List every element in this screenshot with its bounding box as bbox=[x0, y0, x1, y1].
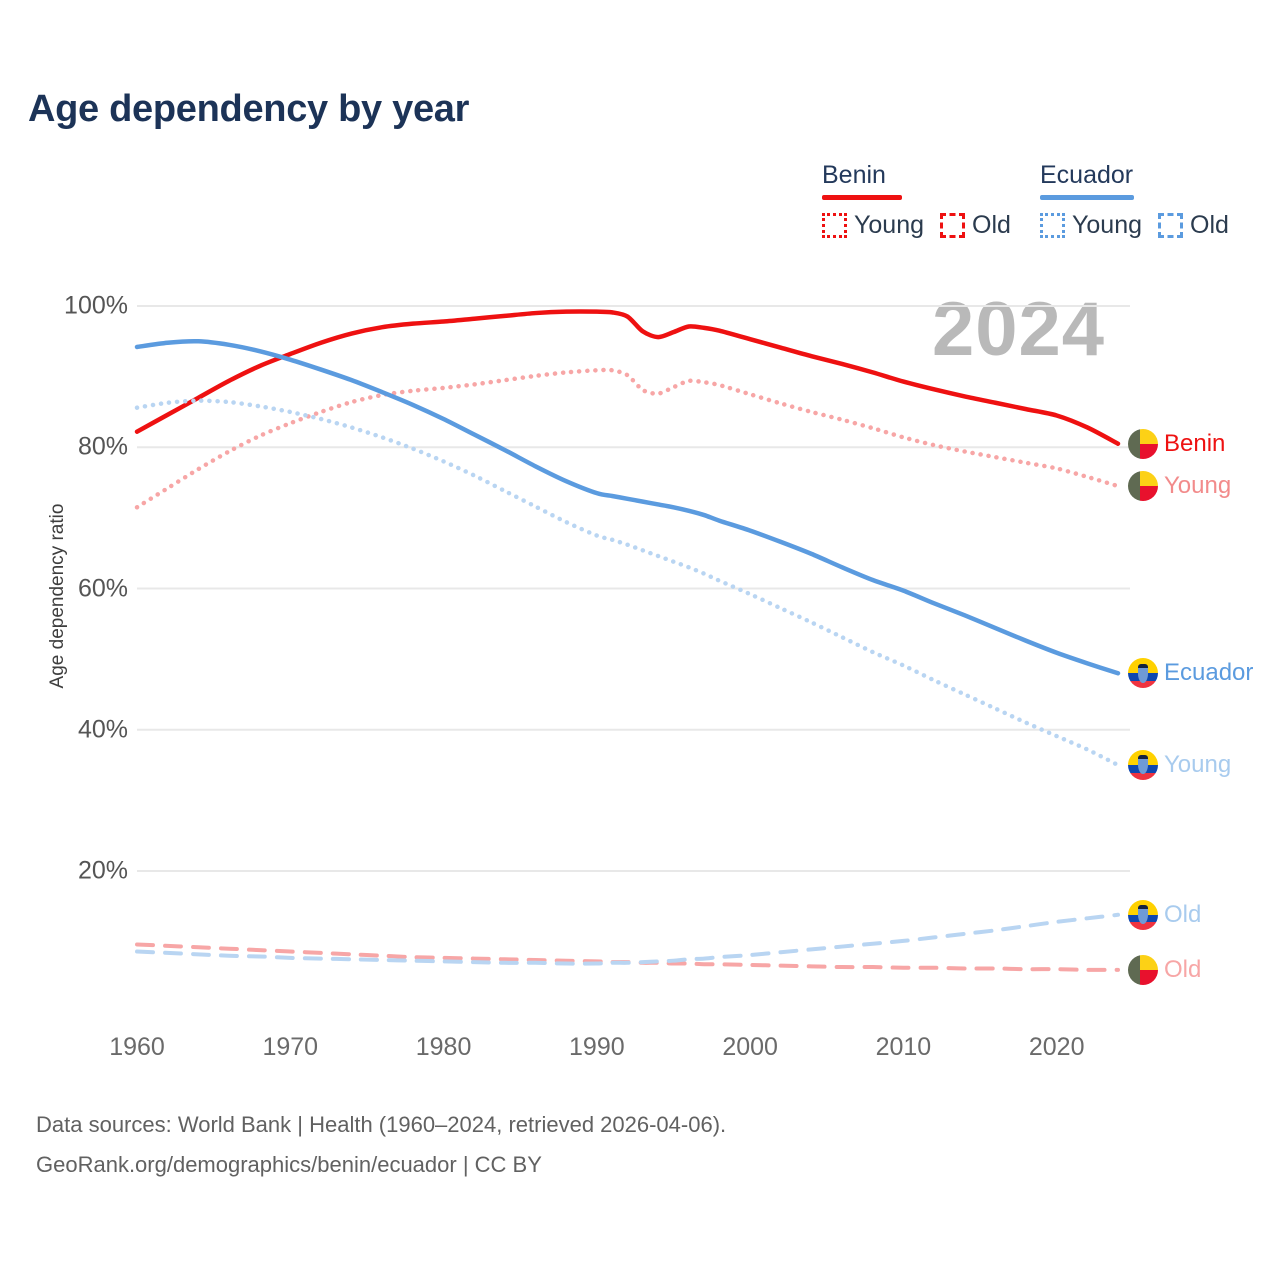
benin-flag-icon bbox=[1128, 429, 1158, 459]
series-end-label-text: Old bbox=[1164, 901, 1201, 929]
series-end-label[interactable]: Ecuador bbox=[1128, 658, 1253, 688]
legend-item-benin-young[interactable]: Young bbox=[822, 211, 924, 240]
x-tick-label: 1960 bbox=[109, 1033, 165, 1062]
footer-attribution: GeoRank.org/demographics/benin/ecuador |… bbox=[36, 1152, 542, 1178]
y-axis-ticks: 20%40%60%80%100% bbox=[0, 0, 128, 1280]
dashed-swatch-icon bbox=[940, 213, 965, 238]
legend-country-ecuador[interactable]: Ecuador bbox=[1040, 160, 1133, 193]
legend-group-benin: Benin Young Old bbox=[822, 160, 1011, 240]
legend-label-benin-young: Young bbox=[854, 211, 924, 240]
benin-flag-icon bbox=[1128, 955, 1158, 985]
series-end-label-text: Young bbox=[1164, 751, 1231, 779]
series-line bbox=[137, 915, 1118, 964]
series-end-label[interactable]: Young bbox=[1128, 471, 1231, 501]
series-end-label[interactable]: Old bbox=[1128, 900, 1201, 930]
series-end-label-text: Young bbox=[1164, 472, 1231, 500]
series-line bbox=[137, 370, 1118, 507]
dotted-swatch-icon bbox=[1040, 213, 1065, 238]
legend: Benin Young Old Ecuador Young bbox=[810, 160, 1270, 252]
series-line bbox=[137, 341, 1118, 673]
legend-item-ecuador-young[interactable]: Young bbox=[1040, 211, 1142, 240]
chart-container: Age dependency by year Benin Young Old E… bbox=[0, 0, 1280, 1280]
legend-group-ecuador: Ecuador Young Old bbox=[1040, 160, 1229, 240]
y-tick-label: 60% bbox=[18, 574, 128, 603]
legend-item-ecuador-old[interactable]: Old bbox=[1158, 211, 1229, 240]
ecuador-flag-icon bbox=[1128, 658, 1158, 688]
dashed-swatch-icon bbox=[1158, 213, 1183, 238]
legend-label-ecuador-old: Old bbox=[1190, 211, 1229, 240]
series-line bbox=[137, 401, 1118, 765]
ecuador-flag-icon bbox=[1128, 750, 1158, 780]
x-tick-label: 1990 bbox=[569, 1033, 625, 1062]
x-tick-label: 1970 bbox=[262, 1033, 318, 1062]
x-tick-label: 2020 bbox=[1029, 1033, 1085, 1062]
x-tick-label: 1980 bbox=[416, 1033, 472, 1062]
legend-rule-ecuador bbox=[1040, 195, 1134, 200]
legend-rule-benin bbox=[822, 195, 902, 200]
series-end-label-text: Benin bbox=[1164, 430, 1225, 458]
series-end-label-text: Ecuador bbox=[1164, 659, 1253, 687]
y-tick-label: 100% bbox=[18, 292, 128, 321]
dotted-swatch-icon bbox=[822, 213, 847, 238]
benin-flag-icon bbox=[1128, 471, 1158, 501]
series-end-label-text: Old bbox=[1164, 956, 1201, 984]
x-tick-label: 2010 bbox=[876, 1033, 932, 1062]
series-end-label[interactable]: Young bbox=[1128, 750, 1231, 780]
series-end-label[interactable]: Old bbox=[1128, 955, 1201, 985]
series-line bbox=[137, 944, 1118, 969]
y-tick-label: 80% bbox=[18, 433, 128, 462]
x-tick-label: 2000 bbox=[722, 1033, 778, 1062]
series-end-label[interactable]: Benin bbox=[1128, 429, 1225, 459]
legend-item-benin-old[interactable]: Old bbox=[940, 211, 1011, 240]
y-tick-label: 20% bbox=[18, 857, 128, 886]
ecuador-flag-icon bbox=[1128, 900, 1158, 930]
footer-data-sources: Data sources: World Bank | Health (1960–… bbox=[36, 1112, 726, 1138]
legend-label-benin-old: Old bbox=[972, 211, 1011, 240]
y-tick-label: 40% bbox=[18, 715, 128, 744]
watermark-year: 2024 bbox=[932, 292, 1105, 368]
legend-label-ecuador-young: Young bbox=[1072, 211, 1142, 240]
legend-country-benin[interactable]: Benin bbox=[822, 160, 886, 193]
